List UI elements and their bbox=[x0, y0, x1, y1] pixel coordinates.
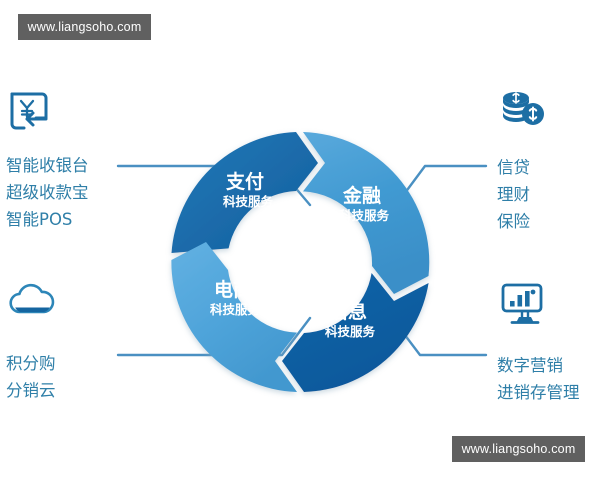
segment-ecommerce[interactable] bbox=[171, 242, 297, 392]
segment-info-title: 信息 bbox=[329, 300, 367, 323]
donut-wheel: 支付 科技服务 金融 科技服务 信息 科技服务 电商 科技服务 bbox=[0, 0, 600, 480]
label-information-1: 数字营销 bbox=[497, 352, 580, 379]
segment-payment-subtitle: 科技服务 bbox=[223, 194, 274, 209]
monitor-chart-icon bbox=[497, 278, 555, 330]
label-finance-3: 保险 bbox=[497, 208, 555, 235]
label-payment-1: 智能收银台 bbox=[6, 152, 89, 179]
segment-info-subtitle: 科技服务 bbox=[325, 324, 376, 339]
segment-ecommerce-subtitle: 科技服务 bbox=[210, 302, 261, 317]
segment-payment-title: 支付 bbox=[225, 170, 264, 193]
label-finance-1: 信贷 bbox=[497, 154, 555, 181]
block-finance-services: 信贷 理财 保险 bbox=[497, 86, 555, 235]
block-ecommerce-services: 积分购 分销云 bbox=[6, 278, 64, 404]
block-ecommerce-labels: 积分购 分销云 bbox=[6, 350, 64, 404]
segment-finance-subtitle: 科技服务 bbox=[339, 208, 390, 223]
coins-dollar-icon bbox=[497, 86, 555, 138]
receipt-yen-icon bbox=[6, 88, 64, 140]
block-information-services: 数字营销 进销存管理 bbox=[497, 278, 580, 406]
block-payment-services: 智能收银台 超级收款宝 智能POS bbox=[6, 88, 89, 233]
label-ecommerce-2: 分销云 bbox=[6, 377, 64, 404]
segment-ecommerce-title: 电商 bbox=[214, 278, 252, 301]
label-ecommerce-1: 积分购 bbox=[6, 350, 64, 377]
label-finance-2: 理财 bbox=[497, 181, 555, 208]
block-finance-labels: 信贷 理财 保险 bbox=[497, 154, 555, 235]
label-payment-3: 智能POS bbox=[6, 206, 89, 233]
block-payment-labels: 智能收银台 超级收款宝 智能POS bbox=[6, 152, 89, 233]
block-information-labels: 数字营销 进销存管理 bbox=[497, 352, 580, 406]
label-information-2: 进销存管理 bbox=[497, 379, 580, 406]
label-payment-2: 超级收款宝 bbox=[6, 179, 89, 206]
segment-finance-title: 金融 bbox=[342, 184, 381, 207]
cloud-icon bbox=[6, 278, 64, 330]
diagram-canvas: www.liangsoho.com www.liangsoho.com bbox=[0, 0, 600, 480]
